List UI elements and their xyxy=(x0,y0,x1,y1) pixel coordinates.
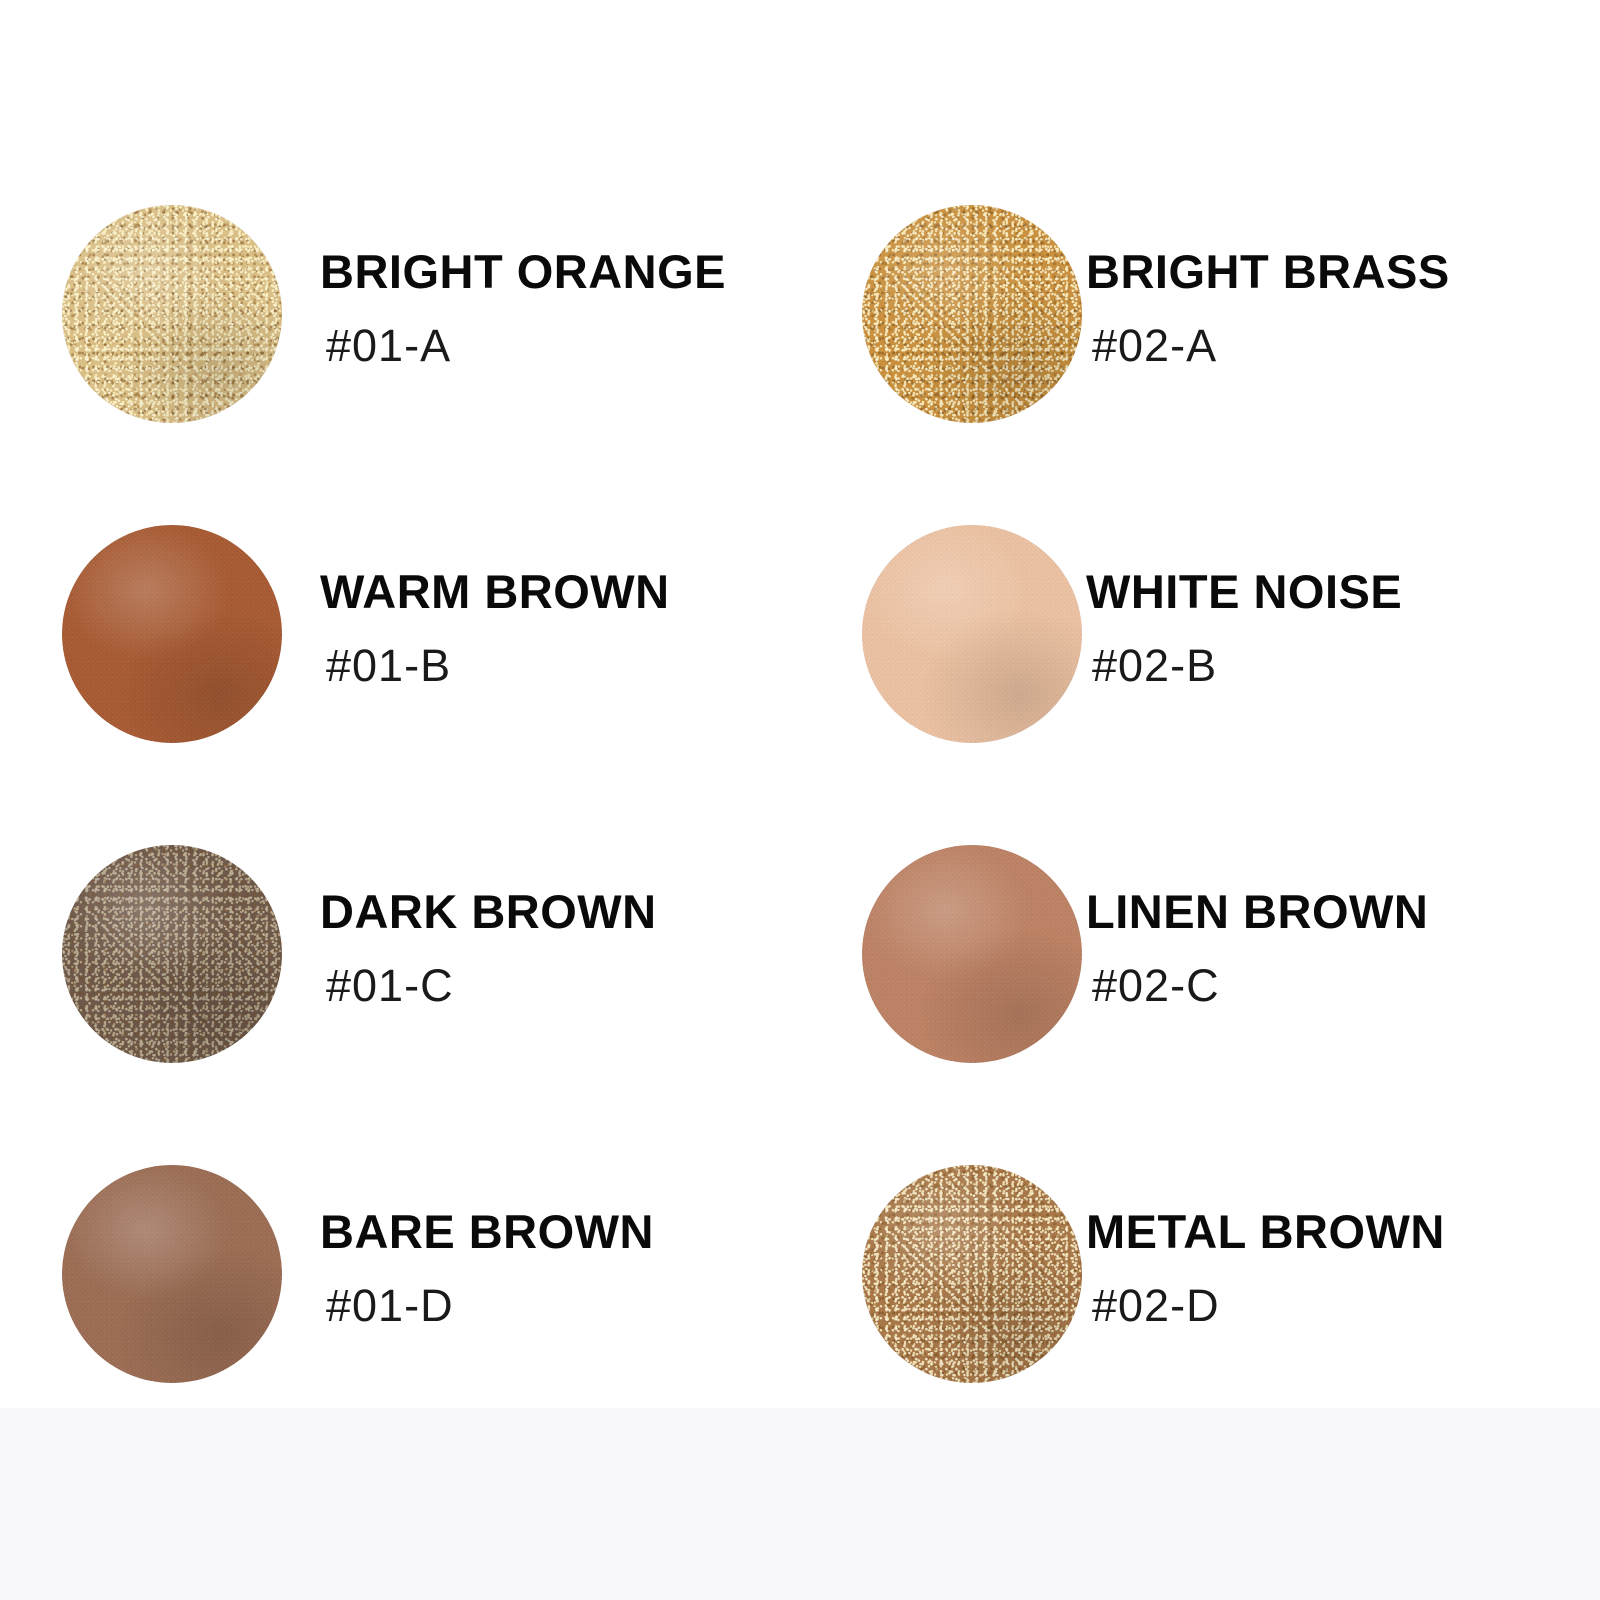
swatch-disc-wrap xyxy=(862,1165,1082,1383)
color-swatch-circle[interactable] xyxy=(62,1165,282,1383)
swatch-code: #02-B xyxy=(1092,643,1526,688)
swatch-row: BRIGHT ORANGE #01-A BRIGHT BRASS #02-A xyxy=(0,190,1600,510)
swatch-label-block: WHITE NOISE #02-B xyxy=(1086,568,1526,688)
color-swatch-circle[interactable] xyxy=(862,525,1082,743)
color-swatch-circle[interactable] xyxy=(862,1165,1082,1383)
swatch-grid: BRIGHT ORANGE #01-A BRIGHT BRASS #02-A xyxy=(0,0,1600,1408)
color-swatch-circle[interactable] xyxy=(62,845,282,1063)
swatch-disc-wrap xyxy=(62,205,282,423)
swatch-fill xyxy=(862,525,1082,743)
swatch-name: LINEN BROWN xyxy=(1086,888,1526,935)
swatch-fill xyxy=(862,845,1082,1063)
swatch-cell-dark-brown[interactable]: DARK BROWN #01-C xyxy=(0,830,800,1150)
swatch-name: BARE BROWN xyxy=(320,1208,760,1255)
swatch-name: DARK BROWN xyxy=(320,888,760,935)
swatch-disc-wrap xyxy=(862,845,1082,1063)
swatch-name: BRIGHT ORANGE xyxy=(320,248,760,295)
swatch-code: #01-D xyxy=(326,1283,760,1328)
swatch-name: WARM BROWN xyxy=(320,568,760,615)
swatch-name: WHITE NOISE xyxy=(1086,568,1526,615)
swatch-code: #01-C xyxy=(326,963,760,1008)
color-swatch-circle[interactable] xyxy=(862,845,1082,1063)
swatch-fill xyxy=(862,205,1082,423)
swatch-label-block: BRIGHT ORANGE #01-A xyxy=(320,248,760,368)
swatch-disc-wrap xyxy=(62,845,282,1063)
swatch-disc-wrap xyxy=(62,1165,282,1383)
swatch-fill xyxy=(62,525,282,743)
swatch-code: #02-C xyxy=(1092,963,1526,1008)
swatch-label-block: LINEN BROWN #02-C xyxy=(1086,888,1526,1008)
swatch-row: WARM BROWN #01-B WHITE NOISE #02-B xyxy=(0,510,1600,830)
swatch-label-block: DARK BROWN #01-C xyxy=(320,888,760,1008)
swatch-cell-warm-brown[interactable]: WARM BROWN #01-B xyxy=(0,510,800,830)
swatch-label-block: METAL BROWN #02-D xyxy=(1086,1208,1526,1328)
swatch-row: DARK BROWN #01-C LINEN BROWN #02-C xyxy=(0,830,1600,1150)
swatch-cell-white-noise[interactable]: WHITE NOISE #02-B xyxy=(800,510,1600,830)
color-swatch-circle[interactable] xyxy=(862,205,1082,423)
swatch-name: METAL BROWN xyxy=(1086,1208,1526,1255)
swatch-label-block: BARE BROWN #01-D xyxy=(320,1208,760,1328)
swatch-fill xyxy=(862,1165,1082,1383)
eyeshadow-palette-sheet: BRIGHT ORANGE #01-A BRIGHT BRASS #02-A xyxy=(0,0,1600,1408)
swatch-disc-wrap xyxy=(862,205,1082,423)
footer-background-band xyxy=(0,1408,1600,1600)
color-swatch-circle[interactable] xyxy=(62,525,282,743)
swatch-label-block: WARM BROWN #01-B xyxy=(320,568,760,688)
swatch-disc-wrap xyxy=(62,525,282,743)
swatch-fill xyxy=(62,205,282,423)
swatch-code: #02-A xyxy=(1092,323,1526,368)
swatch-code: #01-A xyxy=(326,323,760,368)
swatch-fill xyxy=(62,1165,282,1383)
color-swatch-circle[interactable] xyxy=(62,205,282,423)
swatch-disc-wrap xyxy=(862,525,1082,743)
swatch-cell-bright-brass[interactable]: BRIGHT BRASS #02-A xyxy=(800,190,1600,510)
swatch-code: #01-B xyxy=(326,643,760,688)
swatch-code: #02-D xyxy=(1092,1283,1526,1328)
swatch-cell-linen-brown[interactable]: LINEN BROWN #02-C xyxy=(800,830,1600,1150)
swatch-name: BRIGHT BRASS xyxy=(1086,248,1526,295)
swatch-cell-bright-orange[interactable]: BRIGHT ORANGE #01-A xyxy=(0,190,800,510)
swatch-fill xyxy=(62,845,282,1063)
swatch-label-block: BRIGHT BRASS #02-A xyxy=(1086,248,1526,368)
